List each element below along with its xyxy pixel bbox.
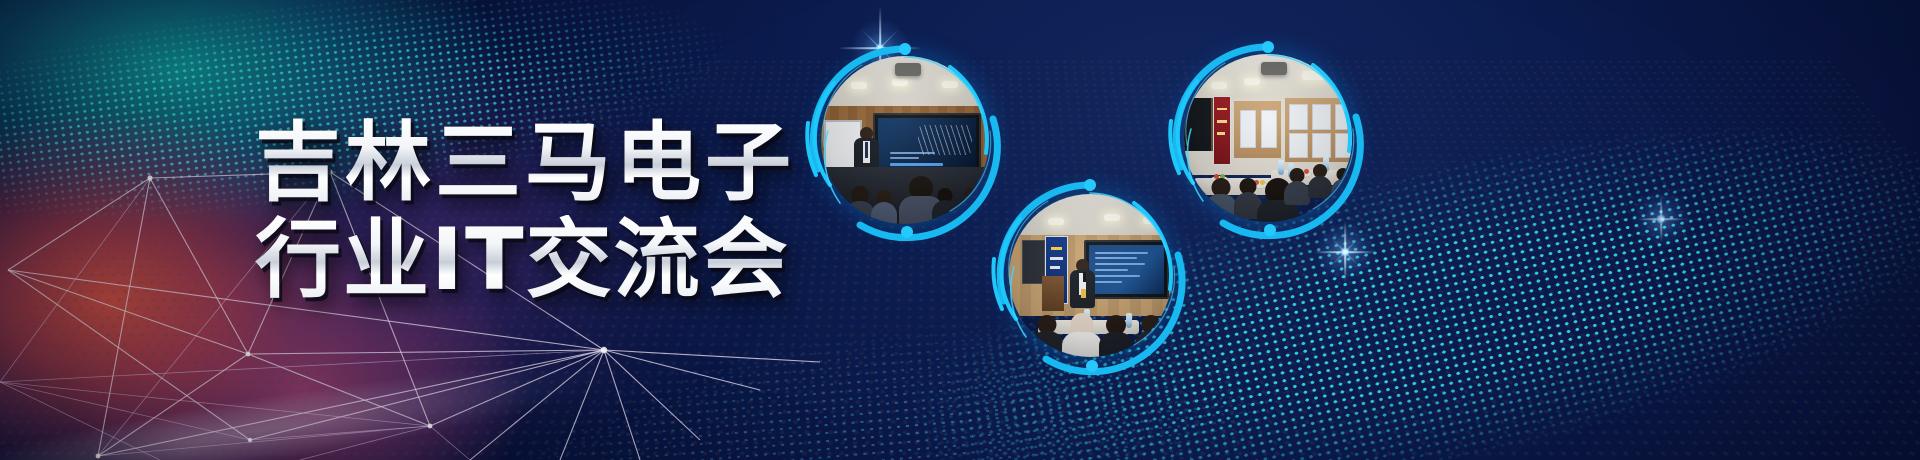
event-banner: 吉林三马电子 行业IT交流会 — [0, 0, 1920, 460]
tech-ring-decoration-1 — [800, 35, 1010, 245]
title-line-2: 行业IT交流会 — [255, 215, 795, 306]
photo-bubble-presentation-hall[interactable] — [800, 35, 1010, 245]
photo-bubble-conference-table[interactable] — [1163, 33, 1373, 243]
banner-title: 吉林三马电子 行业IT交流会 — [255, 118, 795, 306]
title-line-1: 吉林三马电子 — [255, 118, 795, 209]
tech-ring-decoration-3 — [1163, 33, 1373, 243]
